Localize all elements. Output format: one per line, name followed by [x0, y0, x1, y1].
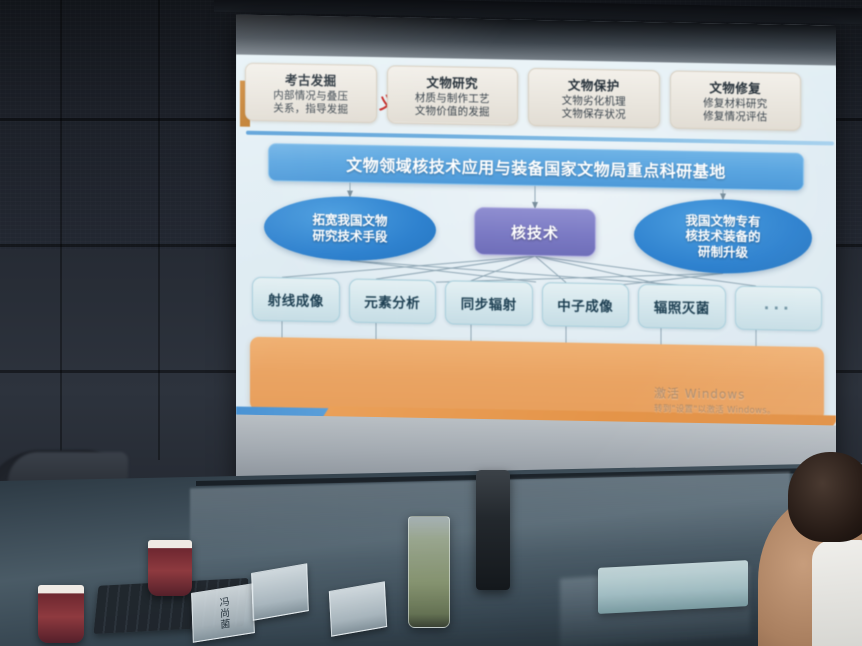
- app-restoration-line-2: 修复情况评估: [703, 110, 767, 125]
- person-head: [788, 452, 862, 542]
- presentation-slide: 建设目的和意义 文物领域核技术应用与装备国家文物局重点科研基地: [236, 55, 836, 428]
- paper-cup: [38, 585, 84, 643]
- conference-room-photo: 建设目的和意义 文物领域核技术应用与装备国家文物局重点科研基地: [0, 0, 862, 646]
- tech-box-element-analysis: 元素分析: [349, 279, 437, 325]
- person-shirt: [812, 540, 862, 646]
- goal-right-line-3: 研制升级: [698, 244, 748, 261]
- app-conservation-line-1: 文物劣化机理: [562, 94, 626, 109]
- app-research-head: 文物研究: [426, 72, 478, 92]
- app-research-line-1: 材质与制作工艺: [415, 91, 490, 106]
- wall-panel-line: [158, 0, 160, 460]
- app-archaeology-head: 考古发掘: [285, 69, 337, 89]
- nameplate-text: 冯尚菌: [215, 595, 231, 630]
- app-box-archaeology: 考古发掘 内部情况与叠压 关系，指导发掘: [245, 63, 377, 123]
- app-conservation-line-2: 文物保存状况: [562, 107, 626, 122]
- app-archaeology-line-1: 内部情况与叠压: [273, 89, 348, 104]
- nameplate: 冯尚菌: [191, 583, 255, 643]
- tech-box-synchrotron: 同步辐射: [445, 280, 533, 326]
- tech-box-neutron-imaging: 中子成像: [542, 282, 630, 328]
- tech-box-irradiation-sterilization: 辐照灭菌: [638, 284, 726, 330]
- app-box-restoration: 文物修复 修复材料研究 修复情况评估: [670, 70, 802, 130]
- wall-panel-line: [60, 0, 62, 460]
- app-archaeology-line-2: 关系，指导发掘: [273, 102, 348, 117]
- app-research-line-2: 文物价值的发掘: [415, 105, 490, 120]
- goal-left-line-2: 研究技术手段: [312, 228, 387, 245]
- goal-left-line-1: 拓宽我国文物: [312, 212, 387, 229]
- app-conservation-head: 文物保护: [568, 74, 620, 94]
- application-row: 考古发掘 内部情况与叠压 关系，指导发掘 文物研究 材质与制作工艺 文物价值的发…: [245, 63, 801, 131]
- goal-right-line-2: 核技术装备的: [685, 228, 760, 245]
- node-core-technology: 核技术: [474, 207, 596, 257]
- app-restoration-line-1: 修复材料研究: [703, 97, 767, 112]
- projection-screen: 建设目的和意义 文物领域核技术应用与装备国家文物局重点科研基地: [236, 15, 836, 496]
- goal-right-line-1: 我国文物专有: [685, 212, 760, 229]
- thermos-bottle: [476, 470, 510, 590]
- app-box-conservation: 文物保护 文物劣化机理 文物保存状况: [528, 68, 660, 128]
- tech-box-more-ellipsis: ···: [735, 286, 823, 332]
- notebook: [598, 560, 748, 614]
- paper-cup: [148, 540, 192, 596]
- app-box-research: 文物研究 材质与制作工艺 文物价值的发掘: [387, 65, 519, 125]
- nameplate: [251, 563, 309, 621]
- app-restoration-head: 文物修复: [709, 77, 761, 97]
- tech-box-xray-imaging: 射线成像: [252, 277, 340, 323]
- nameplate: [329, 581, 387, 636]
- tea-tumbler: [408, 516, 450, 628]
